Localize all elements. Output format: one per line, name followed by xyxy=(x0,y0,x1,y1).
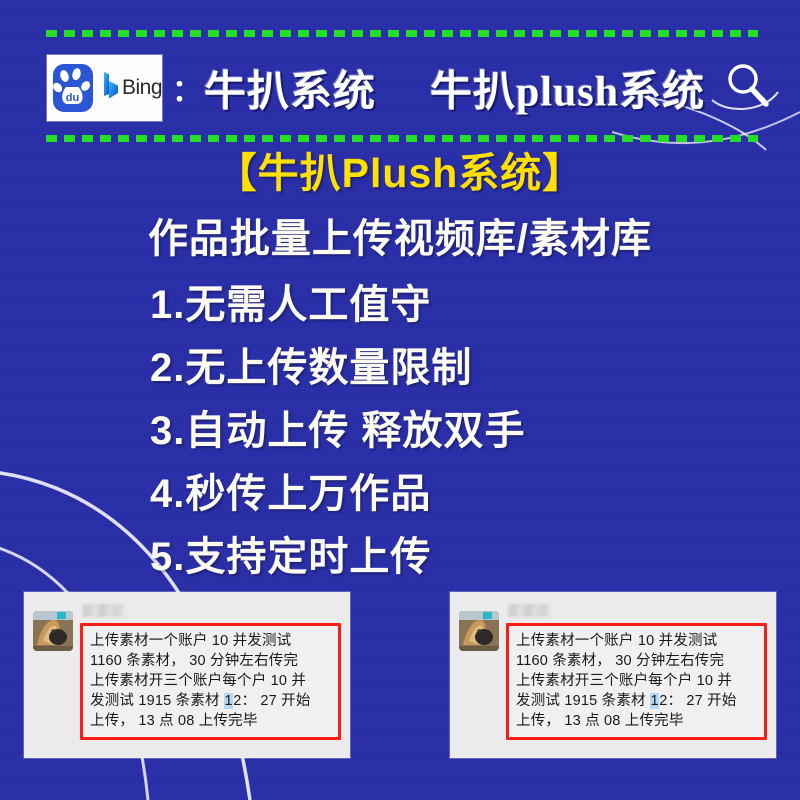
message-line: 1160 条素材， 30 分钟左右传完 xyxy=(90,651,331,671)
proof-card: 上传素材一个账户 10 并发测试 1160 条素材， 30 分钟左右传完 上传素… xyxy=(450,592,776,758)
feature-item-5: 5.支持定时上传 xyxy=(150,526,800,589)
message-line: 上传素材一个账户 10 并发测试 xyxy=(516,631,757,651)
feature-item-3: 3.自动上传 释放双手 xyxy=(150,400,800,463)
divider-dashed-top xyxy=(46,30,758,37)
user-avatar xyxy=(33,611,73,651)
message-line: 发测试 1915 条素材 12： 27 开始 xyxy=(90,691,331,711)
text-selection-highlight: 1 xyxy=(650,693,659,709)
page-subtitle: 作品批量上传视频库/素材库 xyxy=(0,208,800,270)
message-line: 上传素材一个账户 10 并发测试 xyxy=(90,631,331,651)
card-body: 上传素材一个账户 10 并发测试 1160 条素材， 30 分钟左右传完 上传素… xyxy=(80,602,341,750)
main-content: 【牛扒Plush系统】 作品批量上传视频库/素材库 1.无需人工值守 2.无上传… xyxy=(0,146,800,589)
bing-logo-icon: Bing xyxy=(102,70,162,106)
page-title: 【牛扒Plush系统】 xyxy=(0,146,800,200)
card-body: 上传素材一个账户 10 并发测试 1160 条素材， 30 分钟左右传完 上传素… xyxy=(506,602,767,750)
divider-dashed-bottom xyxy=(46,135,758,142)
feature-item-1: 1.无需人工值守 xyxy=(150,274,800,337)
username-redacted xyxy=(82,604,124,617)
message-line: 上传素材开三个账户每个户 10 并 xyxy=(90,671,331,691)
bing-wordmark: Bing xyxy=(122,76,162,100)
svg-text:du: du xyxy=(66,92,79,104)
user-avatar xyxy=(459,611,499,651)
header-band: du Bing ： 牛扒系统 xyxy=(0,46,800,130)
header-title-right: 牛扒plush系统 xyxy=(430,58,705,119)
promo-poster: du Bing ： 牛扒系统 xyxy=(0,0,800,800)
message-line: 1160 条素材， 30 分钟左右传完 xyxy=(516,651,757,671)
search-engine-logo-group: du Bing xyxy=(47,55,162,121)
feature-item-4: 4.秒传上万作品 xyxy=(150,463,800,526)
feature-item-2: 2.无上传数量限制 xyxy=(150,337,800,400)
header-title-left: 牛扒系统 xyxy=(204,58,376,119)
magnifier-icon xyxy=(710,52,782,124)
header-separator: ： xyxy=(172,66,202,110)
proof-screenshot-row: 上传素材一个账户 10 并发测试 1160 条素材， 30 分钟左右传完 上传素… xyxy=(0,592,800,758)
chat-message-bubble: 上传素材一个账户 10 并发测试 1160 条素材， 30 分钟左右传完 上传素… xyxy=(506,623,767,740)
message-line: 上传素材开三个账户每个户 10 并 xyxy=(516,671,757,691)
message-line: 上传， 13 点 08 上传完毕 xyxy=(90,711,331,731)
message-line: 发测试 1915 条素材 12： 27 开始 xyxy=(516,691,757,711)
text-selection-highlight: 1 xyxy=(224,693,233,709)
baidu-logo-icon: du xyxy=(52,61,95,115)
proof-card: 上传素材一个账户 10 并发测试 1160 条素材， 30 分钟左右传完 上传素… xyxy=(24,592,350,758)
username-redacted xyxy=(508,604,550,617)
message-line: 上传， 13 点 08 上传完毕 xyxy=(516,711,757,731)
chat-message-bubble: 上传素材一个账户 10 并发测试 1160 条素材， 30 分钟左右传完 上传素… xyxy=(80,623,341,740)
feature-list: 1.无需人工值守 2.无上传数量限制 3.自动上传 释放双手 4.秒传上万作品 … xyxy=(0,274,800,589)
